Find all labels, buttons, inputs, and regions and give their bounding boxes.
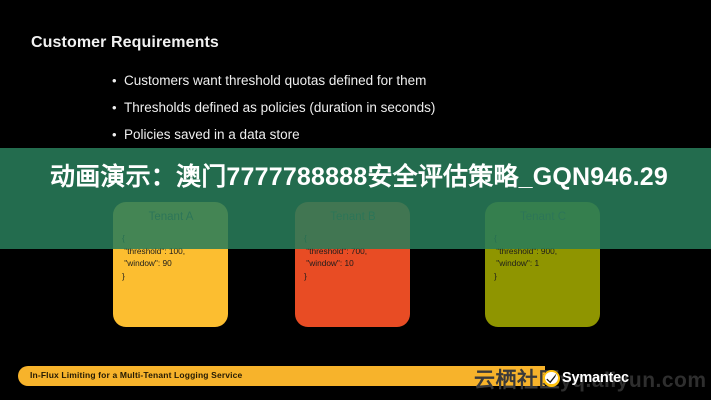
- bullet-dot-icon: •: [112, 126, 124, 143]
- presentation-slide: Customer Requirements • Customers want t…: [0, 0, 711, 400]
- list-item: • Customers want threshold quotas define…: [112, 72, 542, 89]
- symantec-wordmark: Symantec: [562, 370, 629, 386]
- list-item-text: Thresholds defined as policies (duration…: [124, 99, 435, 116]
- list-item-text: Policies saved in a data store: [124, 126, 300, 143]
- list-item-text: Customers want threshold quotas defined …: [124, 72, 426, 89]
- symantec-logo: Symantec: [543, 368, 629, 388]
- requirements-bullet-list: • Customers want threshold quotas define…: [112, 72, 542, 153]
- footer-title: In-Flux Limiting for a Multi-Tenant Logg…: [30, 370, 242, 380]
- page-title: Customer Requirements: [31, 34, 219, 52]
- bullet-dot-icon: •: [112, 99, 124, 116]
- caption-overlay-text: 动画演示：澳门7777788888安全评估策略_GQN946.29: [50, 156, 675, 198]
- symantec-checkmark-icon: [543, 370, 560, 387]
- list-item: • Thresholds defined as policies (durati…: [112, 99, 542, 116]
- list-item: • Policies saved in a data store: [112, 126, 542, 143]
- bullet-dot-icon: •: [112, 72, 124, 89]
